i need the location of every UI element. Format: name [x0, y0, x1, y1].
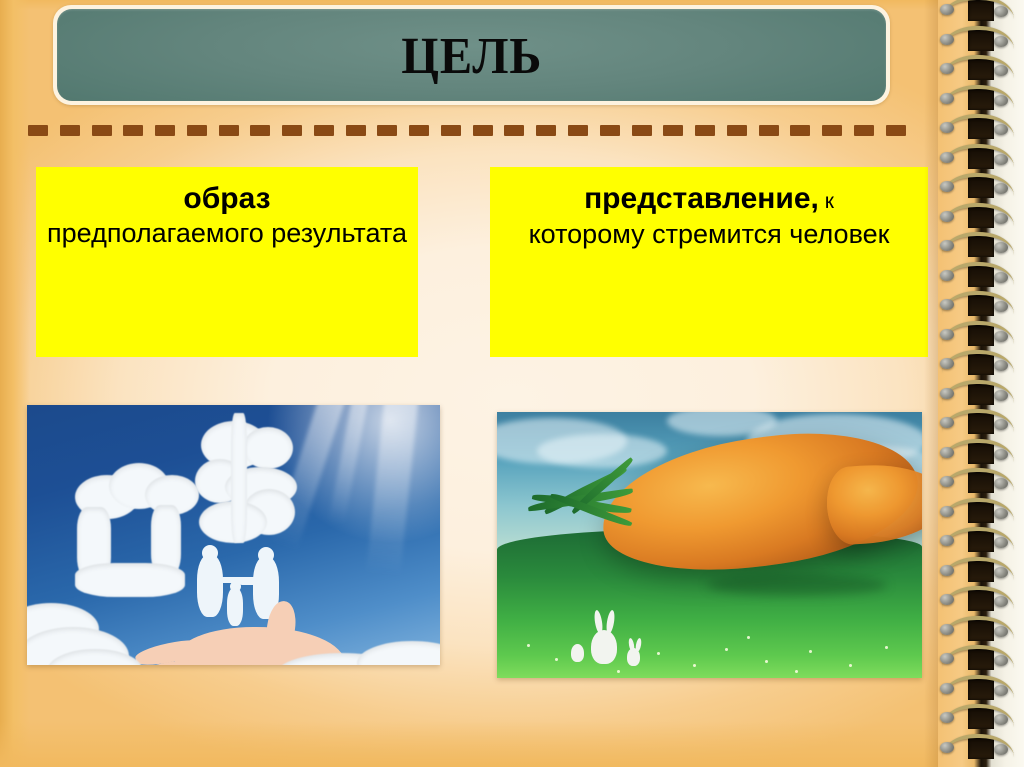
divider-dash — [504, 125, 524, 136]
carrot-tip — [824, 460, 922, 546]
card-left-body: предполагаемого результата — [47, 216, 407, 251]
divider-dash — [727, 125, 747, 136]
divider-dash — [695, 125, 715, 136]
card-left-lead: образ — [183, 181, 270, 216]
binding-wire-end — [994, 596, 1008, 607]
divider-dash — [250, 125, 270, 136]
divider-dash — [790, 125, 810, 136]
meadow-flower — [725, 648, 728, 651]
divider-dash — [187, 125, 207, 136]
binding-wire-end — [994, 419, 1008, 430]
meadow-flower — [809, 650, 812, 653]
binding-wire-end — [994, 183, 1008, 194]
binding-wire-end — [940, 476, 954, 487]
title-plaque: ЦЕЛЬ — [53, 5, 890, 105]
binding-wire-end — [940, 742, 954, 753]
divider-dash — [854, 125, 874, 136]
binding-wire-end — [940, 152, 954, 163]
binding-wire-end — [994, 213, 1008, 224]
binding-wire-end — [940, 565, 954, 576]
binding-wire-end — [994, 655, 1008, 666]
slide-canvas: ЦЕЛЬ образ предполагаемого — [0, 0, 1024, 767]
binding-wire-end — [994, 65, 1008, 76]
divider-dash — [123, 125, 143, 136]
divider-dash — [219, 125, 239, 136]
sky-cloud — [537, 434, 667, 468]
meadow-flower — [795, 670, 798, 673]
binding-wire-end — [940, 299, 954, 310]
divider-dash — [282, 125, 302, 136]
binding-wire-end — [994, 449, 1008, 460]
binding-wire-end — [994, 744, 1008, 755]
divider-dash — [441, 125, 461, 136]
binding-wire-end — [994, 124, 1008, 135]
binding-wire-end — [994, 626, 1008, 637]
binding-wire-end — [940, 63, 954, 74]
binding-wire-end — [994, 301, 1008, 312]
divider-dash — [28, 125, 48, 136]
divider-dash — [409, 125, 429, 136]
divider-dash — [568, 125, 588, 136]
binding-wire-end — [940, 34, 954, 45]
cloud-figure-adult — [197, 555, 223, 617]
meadow-flower — [657, 652, 660, 655]
divider-dash — [314, 125, 334, 136]
binding-wire-end — [940, 506, 954, 517]
binding-wire-end — [940, 712, 954, 723]
divider-dash — [600, 125, 620, 136]
cloud-figure-adult-head — [258, 547, 274, 563]
rabbit-body — [591, 630, 617, 664]
meadow-flower — [617, 670, 620, 673]
divider-dash — [822, 125, 842, 136]
binding-wire-end — [940, 624, 954, 635]
page-title: ЦЕЛЬ — [401, 27, 542, 83]
frame-bottom-edge — [0, 721, 940, 767]
binding-wire-end — [940, 417, 954, 428]
binding-wire-end — [994, 390, 1008, 401]
divider-dash — [663, 125, 683, 136]
binding-wire-end — [940, 535, 954, 546]
cloud-figure-child — [227, 588, 243, 626]
binding-wire-end — [994, 685, 1008, 696]
rabbit-body-small — [571, 644, 584, 662]
binding-wire-end — [994, 36, 1008, 47]
binding-wire-end — [994, 95, 1008, 106]
binding-wire-end — [994, 478, 1008, 489]
cloud-figure-adult-head — [202, 545, 218, 561]
meadow-flower — [527, 644, 530, 647]
binding-wire-end — [940, 4, 954, 15]
binding-wire-end — [994, 6, 1008, 17]
divider-dash — [536, 125, 556, 136]
divider-dash — [92, 125, 112, 136]
divider-dash — [886, 125, 906, 136]
divider-dash — [346, 125, 366, 136]
divider-dash — [155, 125, 175, 136]
page-edge-shadow — [924, 0, 938, 767]
divider-dash — [377, 125, 397, 136]
binding-wire-end — [994, 508, 1008, 519]
cloud-dollar-top — [243, 427, 293, 469]
divider-dash — [60, 125, 80, 136]
binding-wire-end — [940, 329, 954, 340]
image-clouds-dreams — [27, 405, 440, 665]
card-right-body: которому стремится человек — [529, 217, 890, 252]
binding-wire-end — [940, 388, 954, 399]
binding-wire-end — [994, 331, 1008, 342]
dashed-divider — [28, 124, 906, 136]
card-right-lead-tail-word: к — [825, 190, 834, 213]
title-plaque-inner: ЦЕЛЬ — [57, 9, 886, 101]
binding-wire-end — [994, 537, 1008, 548]
cloud-dollar-stroke — [231, 413, 247, 543]
binding-wire-end — [940, 683, 954, 694]
image-giant-carrot — [497, 412, 922, 678]
binding-wire-end — [940, 270, 954, 281]
card-right-first-line: представление, к — [584, 181, 834, 217]
cloud-figure-arm — [239, 579, 275, 585]
binding-wire-end — [940, 240, 954, 251]
binding-wire-end — [994, 154, 1008, 165]
definition-card-right: представление, к которому стремится чело… — [490, 167, 928, 357]
binding-wire-end — [940, 594, 954, 605]
binding-wire-end — [940, 447, 954, 458]
spiral-binding — [938, 0, 1024, 767]
definition-card-left: образ предполагаемого результата — [36, 167, 418, 357]
binding-wire-end — [994, 567, 1008, 578]
binding-wire-end — [940, 358, 954, 369]
binding-wire-end — [994, 360, 1008, 371]
card-right-lead: представление, — [584, 182, 819, 215]
binding-wire-end — [994, 714, 1008, 725]
divider-dash — [632, 125, 652, 136]
binding-wire-end — [940, 93, 954, 104]
meadow-flower — [747, 636, 750, 639]
binding-wire-end — [940, 122, 954, 133]
frame-left-edge — [0, 0, 30, 767]
cloud-house-base — [75, 563, 185, 597]
binding-wire-end — [940, 653, 954, 664]
binding-wire-end — [940, 181, 954, 192]
meadow-flower — [885, 646, 888, 649]
binding-wire-end — [994, 242, 1008, 253]
binding-wire-end — [940, 211, 954, 222]
carrot-shadow — [707, 574, 887, 596]
meadow-flower — [849, 664, 852, 667]
meadow-flower — [765, 660, 768, 663]
divider-dash — [473, 125, 493, 136]
meadow-flower — [693, 664, 696, 667]
meadow-flower — [555, 658, 558, 661]
divider-dash — [759, 125, 779, 136]
binding-wire-end — [994, 272, 1008, 283]
